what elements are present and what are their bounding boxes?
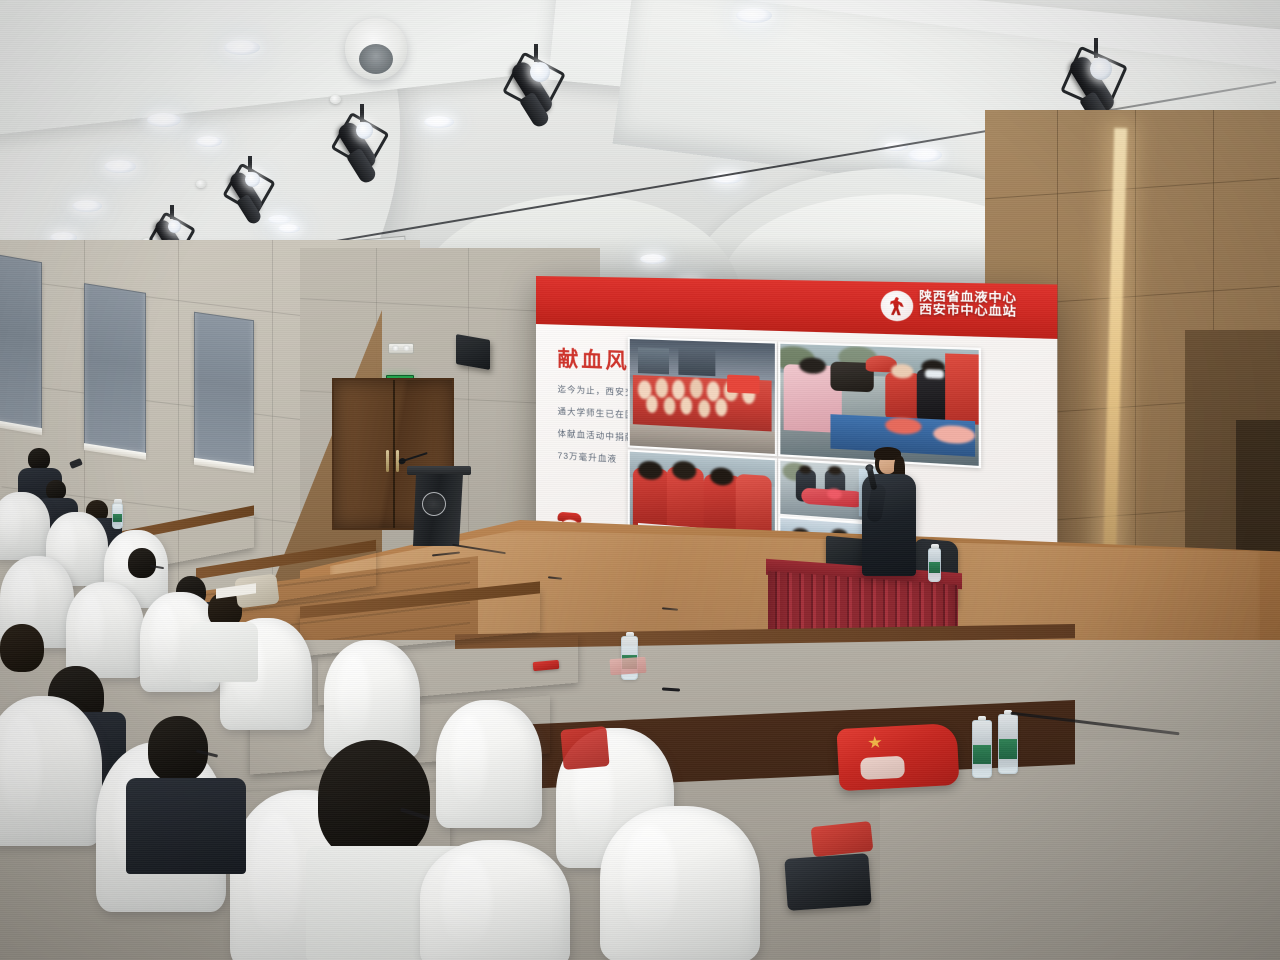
- recessed-downlight-icon: [104, 160, 136, 173]
- recessed-downlight-icon: [147, 113, 181, 127]
- slide-text-line: 迄今为止，西安交: [558, 383, 635, 399]
- slide-text-line: 通大学师生已在团: [558, 405, 635, 421]
- chair-cover: [420, 840, 570, 960]
- recessed-downlight-icon: [72, 200, 102, 212]
- slide-photo-group-volunteers: [628, 337, 777, 456]
- desk-pad: [609, 657, 646, 675]
- emergency-light-icon: [388, 343, 414, 354]
- water-bottle-ledge-1: [972, 720, 992, 778]
- blood-center-logo-icon: [881, 290, 914, 321]
- lectern[interactable]: [410, 466, 468, 552]
- wall-speaker-icon: [456, 334, 490, 370]
- slide-text-line: 体献血活动中捐献: [558, 427, 635, 444]
- org-name: 陕西省血液中心 西安市中心血站: [919, 290, 1050, 320]
- audience-head: [46, 480, 66, 500]
- audience-torso: [126, 778, 246, 874]
- red-volunteer-vests: [836, 723, 959, 791]
- window-blind-1[interactable]: [0, 254, 42, 432]
- smoke-detector-icon: [330, 95, 341, 104]
- wood-seam: [985, 178, 1279, 200]
- audience-head: [28, 448, 50, 470]
- chair-cover: [0, 696, 102, 846]
- black-backpack: [784, 853, 871, 911]
- audience-torso: [190, 622, 258, 682]
- slide-text-line: 73万毫升血液: [558, 449, 618, 465]
- recessed-downlight-icon: [278, 224, 300, 233]
- red-garment: [811, 821, 874, 857]
- org-line-2: 西安市中心血站: [919, 303, 1050, 320]
- chair-cover: [600, 806, 760, 960]
- audience-head: [0, 624, 44, 672]
- audience-head: [128, 548, 156, 578]
- recessed-downlight-icon: [736, 8, 772, 23]
- recessed-downlight-icon: [640, 254, 666, 264]
- water-bottle-ledge-2: [998, 714, 1018, 774]
- chair-cover: [66, 582, 144, 678]
- presenter: [858, 448, 922, 576]
- water-bottle-table: [928, 548, 941, 582]
- chair-cover: [436, 700, 542, 828]
- auditorium-photo: 🏃 陕西省血液中心 西安市中心血站 献血风采 迄今为止，西安交: [0, 0, 1280, 960]
- recessed-downlight-icon: [196, 136, 222, 147]
- audience-head: [318, 740, 430, 860]
- window-blind-3[interactable]: [194, 312, 254, 470]
- wall-seam: [468, 248, 469, 578]
- bag-red: [560, 726, 609, 770]
- recessed-downlight-icon: [268, 215, 291, 224]
- water-bottle-tier: [112, 503, 123, 529]
- window-blind-2[interactable]: [84, 283, 146, 457]
- recessed-downlight-icon: [424, 116, 454, 128]
- recessed-downlight-icon: [908, 148, 942, 162]
- smoke-detector-icon: [196, 180, 206, 188]
- chair-cover: [0, 492, 50, 560]
- hvac-diffuser-icon: [345, 18, 407, 80]
- university-emblem-icon: [422, 492, 446, 516]
- recessed-downlight-icon: [224, 40, 260, 55]
